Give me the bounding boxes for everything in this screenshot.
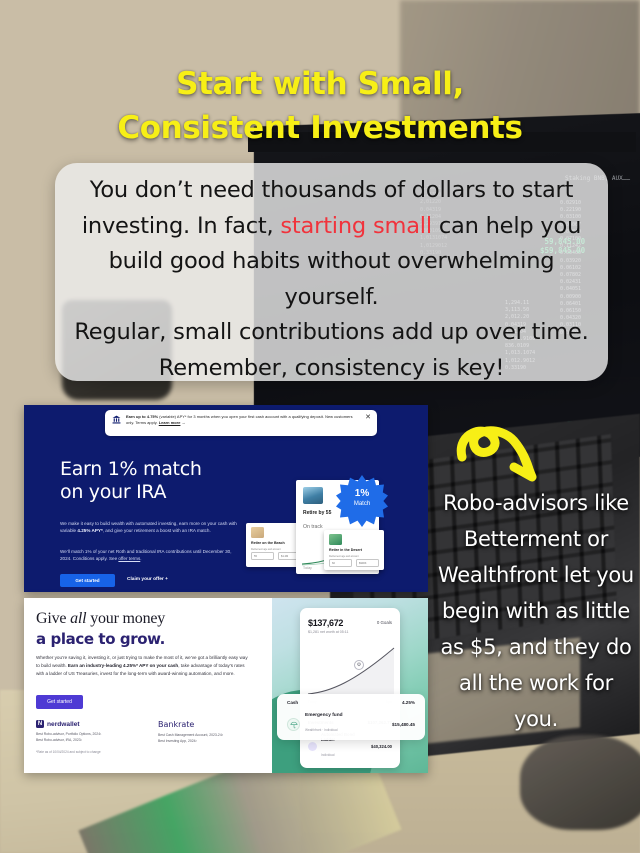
wf-paragraph: Whether you’re saving it, investing it, …	[36, 654, 250, 677]
retire-card-title: Retire by 55	[303, 510, 331, 516]
portfolio-growth-chart	[302, 638, 398, 698]
wf-awards: N nerdwallet Best Robo-advisor, Portfoli…	[36, 720, 261, 744]
portfolio-phone-mock: $137,672 0 Goals $1,281 net worth at 05:…	[300, 608, 400, 768]
ira-headline-line-2: on your IRA	[60, 481, 166, 503]
portfolio-total-amount: $137,672	[308, 618, 343, 628]
bankrate-logo: Bankrate	[158, 720, 258, 729]
cash-row: Cash 4.25%	[287, 700, 415, 705]
body-text-card: You don’t need thousands of dollars to s…	[55, 163, 608, 381]
wf-headline-italic: all	[70, 610, 86, 627]
ira-match-badge: 1% Match	[336, 475, 388, 527]
wf-headline-a: Give	[36, 610, 70, 627]
bond-ladder-value: $40,324.00	[371, 744, 392, 749]
portfolio-goals-count: 0 Goals	[377, 620, 392, 625]
bankrate-brand-name: Bankrate	[158, 720, 194, 729]
ira-p1-c: , and give your retirement a boost with …	[103, 528, 211, 533]
ira-paragraph-2: We’ll match 1% of your net Roth and trad…	[60, 548, 240, 563]
body-paragraph-1: You don’t need thousands of dollars to s…	[69, 173, 594, 315]
nerdwallet-brand-name: nerdwallet	[47, 721, 80, 728]
ira-paragraph-1: We make it easy to build wealth with aut…	[60, 520, 240, 535]
wf-headline-b: your money	[86, 610, 165, 627]
desert-input-age[interactable]: 60	[329, 559, 352, 567]
wf-left-panel: Give all your money a place to grow. Whe…	[24, 598, 272, 773]
desert-card-title: Retire in the Desert	[329, 548, 362, 552]
emergency-fund-name: Emergency fund	[305, 713, 343, 718]
body-highlight: starting small	[280, 213, 431, 239]
ira-headline: Earn 1% match on your IRA	[60, 458, 290, 504]
cash-label: Cash	[287, 700, 298, 705]
umbrella-icon	[290, 721, 298, 729]
chart-marker-icon: ⚙	[354, 660, 364, 670]
award-column-bankrate: Bankrate Best Cash Management Account, 2…	[158, 720, 258, 744]
computer-mouse	[520, 735, 640, 830]
award-line: Best Investing App, 2024²	[158, 739, 258, 745]
curved-arrow-icon	[452, 415, 552, 495]
award-line: Best Robo-advisor, IRA, 2023¹	[36, 738, 136, 744]
ira-promo-arrow: →	[182, 420, 186, 425]
close-icon[interactable]: ✕	[365, 414, 371, 422]
wf-headline-bold: a place to grow.	[36, 630, 165, 648]
beach-card-title: Retire on the Beach	[251, 541, 285, 545]
beach-input-age[interactable]: 55	[251, 552, 274, 560]
ira-p1-apy: 4.25% APY*	[77, 528, 102, 533]
desert-card-inputs: 60 $900K	[329, 559, 379, 567]
headline-line-1: Start with Small,	[0, 62, 640, 106]
page-title: Start with Small, Consistent Investments	[0, 62, 640, 150]
ira-match-badge-label: Match	[336, 499, 388, 509]
beach-card-inputs: 55 $1.2M	[251, 552, 301, 560]
ira-ad-screenshot[interactable]: Earn up to 4.75% (variable) APY* for 3 m…	[24, 405, 428, 592]
emergency-fund-name-block: Emergency fund Wealthfront · Individual	[305, 713, 343, 736]
portfolio-subtext: $1,281 net worth at 05:11	[308, 630, 349, 634]
bank-icon	[112, 415, 121, 424]
ira-promo-learn-more[interactable]: Learn more	[159, 420, 181, 425]
ira-p2-a: We’ll match 1% of your net Roth and trad…	[60, 549, 232, 561]
beach-card-label: Retirement age and amount	[251, 548, 281, 551]
cash-overlay-card[interactable]: Cash 4.25% Emergency fund Wealthfront · …	[277, 694, 425, 740]
ira-p2-c: .	[140, 556, 141, 561]
ira-headline-line-1: Earn 1% match	[60, 458, 202, 480]
bond-ladder-sub: Individual	[321, 753, 334, 757]
ira-claim-offer-link[interactable]: Claim your offer +	[127, 577, 168, 582]
wealthfront-ad-screenshot[interactable]: Give all your money a place to grow. Whe…	[24, 598, 428, 773]
emergency-fund-value: $15,480.45	[392, 722, 415, 727]
emergency-fund-icon	[287, 718, 300, 731]
body-paragraph-2: Regular, small contributions add up over…	[69, 315, 594, 386]
wf-footnote: *Rate as of 10/04/2024 and subject to ch…	[36, 750, 101, 754]
nerdwallet-mark-icon: N	[36, 720, 44, 728]
ira-match-badge-percent: 1%	[336, 489, 388, 499]
wf-p-apy: Earn an industry-leading 4.25%* APY on y…	[68, 663, 178, 668]
ira-offer-terms-link[interactable]: offer terms	[118, 556, 140, 561]
wf-headline-serif: Give all your money	[36, 610, 165, 628]
nerdwallet-logo: N nerdwallet	[36, 720, 136, 728]
wf-get-started-button[interactable]: Get started	[36, 695, 83, 709]
bond-ladder-icon	[308, 742, 317, 751]
cash-rate: 4.25%	[402, 700, 415, 705]
desert-thumbnail-icon	[329, 534, 342, 545]
desert-card-label: Retirement age and amount	[329, 555, 359, 558]
ira-get-started-button[interactable]: Get started	[60, 574, 115, 587]
ira-mock-card-desert: Retire in the Desert Retirement age and …	[324, 530, 384, 570]
beach-thumbnail-icon	[251, 527, 264, 538]
right-caption-text: Robo-advisors like Betterment or Wealthf…	[436, 485, 636, 737]
retire-thumbnail-icon	[303, 487, 323, 504]
ira-promo-bold: Earn up to 4.75%	[126, 414, 158, 419]
wf-right-panel: $137,672 0 Goals $1,281 net worth at 05:…	[272, 598, 428, 773]
headline-line-2: Consistent Investments	[0, 106, 640, 150]
ira-promo-banner-text: Earn up to 4.75% (variable) APY* for 3 m…	[126, 414, 361, 427]
award-column-nerdwallet: N nerdwallet Best Robo-advisor, Portfoli…	[36, 720, 136, 744]
desert-input-amount[interactable]: $900K	[356, 559, 379, 567]
emergency-fund-sub: Wealthfront · Individual	[305, 728, 338, 732]
poster-canvas: Staking BNB, AUXــ 0.02910 0.22190 0.031…	[0, 0, 640, 853]
retire-axis-left: Today	[303, 566, 312, 570]
emergency-fund-item[interactable]: Emergency fund Wealthfront · Individual …	[287, 713, 415, 736]
ira-match-badge-text: 1% Match	[336, 489, 388, 509]
ira-promo-banner[interactable]: Earn up to 4.75% (variable) APY* for 3 m…	[105, 410, 377, 436]
